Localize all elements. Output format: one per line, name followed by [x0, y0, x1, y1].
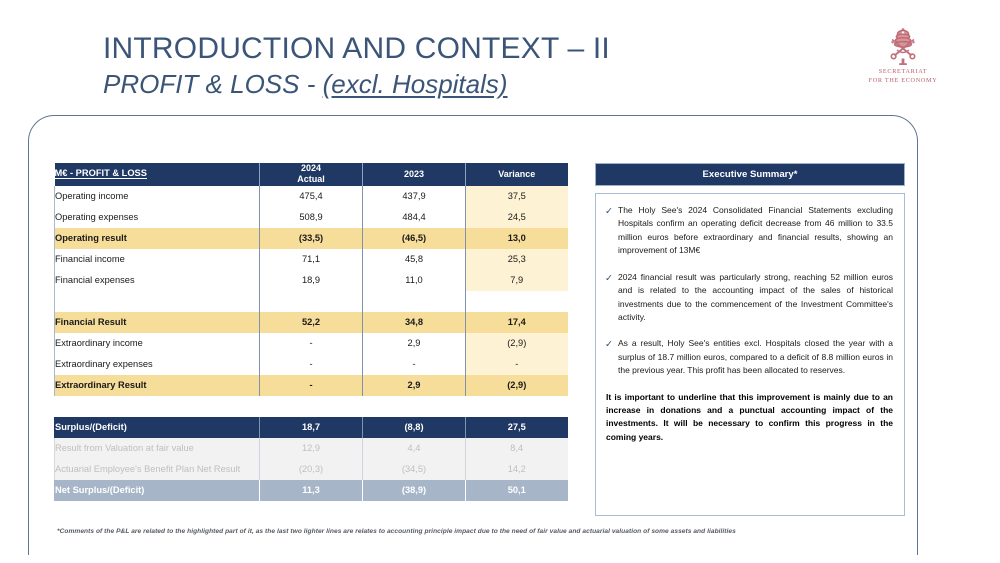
- page-title: INTRODUCTION AND CONTEXT – II: [103, 31, 803, 66]
- header-2024-year: 2024: [260, 163, 362, 174]
- row-label: Surplus/(Deficit): [55, 417, 260, 438]
- cell-variance: 50,1: [466, 480, 568, 501]
- page-subtitle: PROFIT & LOSS - (excl. Hospitals): [103, 69, 803, 100]
- header-2024-actual: Actual: [260, 174, 362, 185]
- table-row: Extraordinary Result-2,9(2,9): [55, 375, 568, 396]
- cell-2024: (33,5): [260, 228, 363, 249]
- cell-2023: [363, 396, 466, 417]
- slide-title-block: INTRODUCTION AND CONTEXT – II PROFIT & L…: [103, 31, 803, 101]
- table-row: [55, 291, 568, 312]
- cell-2024: 508,9: [260, 207, 363, 228]
- cell-2023: 2,9: [363, 333, 466, 354]
- row-label: Net Surplus/(Deficit): [55, 480, 260, 501]
- summary-bullet: ✓2024 financial result was particularly …: [605, 271, 893, 325]
- row-label: Extraordinary expenses: [55, 354, 260, 375]
- cell-2023: 4,4: [363, 438, 466, 459]
- cell-variance: [466, 291, 568, 312]
- executive-summary-body: ✓The Holy See's 2024 Consolidated Financ…: [595, 193, 905, 516]
- cell-2023: [363, 291, 466, 312]
- footnote-text: *Comments of the P&L are related to the …: [57, 528, 887, 535]
- column-header-2023: 2023: [363, 163, 466, 186]
- table-row: Operating expenses508,9484,424,5: [55, 207, 568, 228]
- cell-2024: 11,3: [260, 480, 363, 501]
- executive-summary-title: Executive Summary*: [595, 163, 905, 186]
- header-variance: Variance: [466, 169, 568, 180]
- papal-coat-of-arms-icon: [882, 27, 924, 67]
- cell-variance: 13,0: [466, 228, 568, 249]
- column-header-2024: 2024 Actual: [260, 163, 363, 186]
- check-icon: ✓: [605, 204, 618, 258]
- row-label: Financial income: [55, 249, 260, 270]
- row-label: Financial expenses: [55, 270, 260, 291]
- cell-2023: 45,8: [363, 249, 466, 270]
- cell-2024: -: [260, 333, 363, 354]
- cell-variance: 27,5: [466, 417, 568, 438]
- table-row: Result from Valuation at fair value12,94…: [55, 438, 568, 459]
- cell-variance: (2,9): [466, 333, 568, 354]
- subtitle-plain: PROFIT & LOSS -: [103, 69, 315, 99]
- cell-2023: 437,9: [363, 186, 466, 207]
- summary-bullet-text: 2024 financial result was particularly s…: [618, 271, 893, 325]
- header-2023-year: 2023: [363, 169, 465, 180]
- row-label: Operating result: [55, 228, 260, 249]
- cell-2023: -: [363, 354, 466, 375]
- profit-and-loss-table: M€ - PROFIT & LOSS 2024 Actual 2023 Vari…: [54, 163, 568, 501]
- cell-2023: (8,8): [363, 417, 466, 438]
- cell-variance: -: [466, 354, 568, 375]
- table-row: Financial expenses18,911,07,9: [55, 270, 568, 291]
- cell-variance: 37,5: [466, 186, 568, 207]
- cell-2023: 2,9: [363, 375, 466, 396]
- cell-variance: (2,9): [466, 375, 568, 396]
- cell-variance: 24,5: [466, 207, 568, 228]
- subtitle-underlined: (excl. Hospitals): [323, 69, 508, 99]
- cell-2024: 475,4: [260, 186, 363, 207]
- cell-2024: 18,7: [260, 417, 363, 438]
- cell-2024: [260, 396, 363, 417]
- table-row: Surplus/(Deficit)18,7(8,8)27,5: [55, 417, 568, 438]
- row-label: Actuarial Employee's Benefit Plan Net Re…: [55, 459, 260, 480]
- row-label: Extraordinary Result: [55, 375, 260, 396]
- summary-bullet-text: As a result, Holy See's entities excl. H…: [618, 337, 893, 377]
- organization-logo: SECRETARIAT FOR THE ECONOMY: [866, 27, 940, 86]
- row-label: Extraordinary income: [55, 333, 260, 354]
- logo-line-2: FOR THE ECONOMY: [866, 76, 940, 85]
- cell-variance: 14,2: [466, 459, 568, 480]
- cell-2024: (20,3): [260, 459, 363, 480]
- logo-line-1: SECRETARIAT: [866, 67, 940, 76]
- table-row: Financial Result52,234,817,4: [55, 312, 568, 333]
- table-row: Operating income475,4437,937,5: [55, 186, 568, 207]
- row-label: Result from Valuation at fair value: [55, 438, 260, 459]
- executive-summary-note: It is important to underline that this i…: [605, 391, 893, 445]
- cell-variance: 7,9: [466, 270, 568, 291]
- row-label: [55, 291, 260, 312]
- cell-variance: 17,4: [466, 312, 568, 333]
- cell-variance: 25,3: [466, 249, 568, 270]
- column-header-variance: Variance: [466, 163, 568, 186]
- table-row: Operating result(33,5)(46,5)13,0: [55, 228, 568, 249]
- summary-bullet: ✓The Holy See's 2024 Consolidated Financ…: [605, 204, 893, 258]
- summary-bullet: ✓As a result, Holy See's entities excl. …: [605, 337, 893, 377]
- summary-bullet-text: The Holy See's 2024 Consolidated Financi…: [618, 204, 893, 258]
- cell-variance: 8,4: [466, 438, 568, 459]
- table-header-row: M€ - PROFIT & LOSS 2024 Actual 2023 Vari…: [55, 163, 568, 186]
- executive-summary-panel: Executive Summary* ✓The Holy See's 2024 …: [595, 163, 905, 516]
- cell-2023: (46,5): [363, 228, 466, 249]
- cell-2023: 11,0: [363, 270, 466, 291]
- table-row: Extraordinary income-2,9(2,9): [55, 333, 568, 354]
- cell-2024: 12,9: [260, 438, 363, 459]
- table-row: Net Surplus/(Deficit)11,3(38,9)50,1: [55, 480, 568, 501]
- row-label: [55, 396, 260, 417]
- check-icon: ✓: [605, 337, 618, 377]
- cell-2024: [260, 291, 363, 312]
- cell-2024: 71,1: [260, 249, 363, 270]
- table-row: Actuarial Employee's Benefit Plan Net Re…: [55, 459, 568, 480]
- cell-2023: (34,5): [363, 459, 466, 480]
- column-header-label: M€ - PROFIT & LOSS: [55, 163, 260, 186]
- cell-2024: 18,9: [260, 270, 363, 291]
- table-row: Financial income71,145,825,3: [55, 249, 568, 270]
- check-icon: ✓: [605, 271, 618, 325]
- cell-2023: (38,9): [363, 480, 466, 501]
- cell-2024: -: [260, 354, 363, 375]
- cell-variance: [466, 396, 568, 417]
- row-label: Operating income: [55, 186, 260, 207]
- row-label: Financial Result: [55, 312, 260, 333]
- cell-2023: 484,4: [363, 207, 466, 228]
- table-row: [55, 396, 568, 417]
- cell-2023: 34,8: [363, 312, 466, 333]
- row-label: Operating expenses: [55, 207, 260, 228]
- cell-2024: 52,2: [260, 312, 363, 333]
- cell-2024: -: [260, 375, 363, 396]
- table-row: Extraordinary expenses---: [55, 354, 568, 375]
